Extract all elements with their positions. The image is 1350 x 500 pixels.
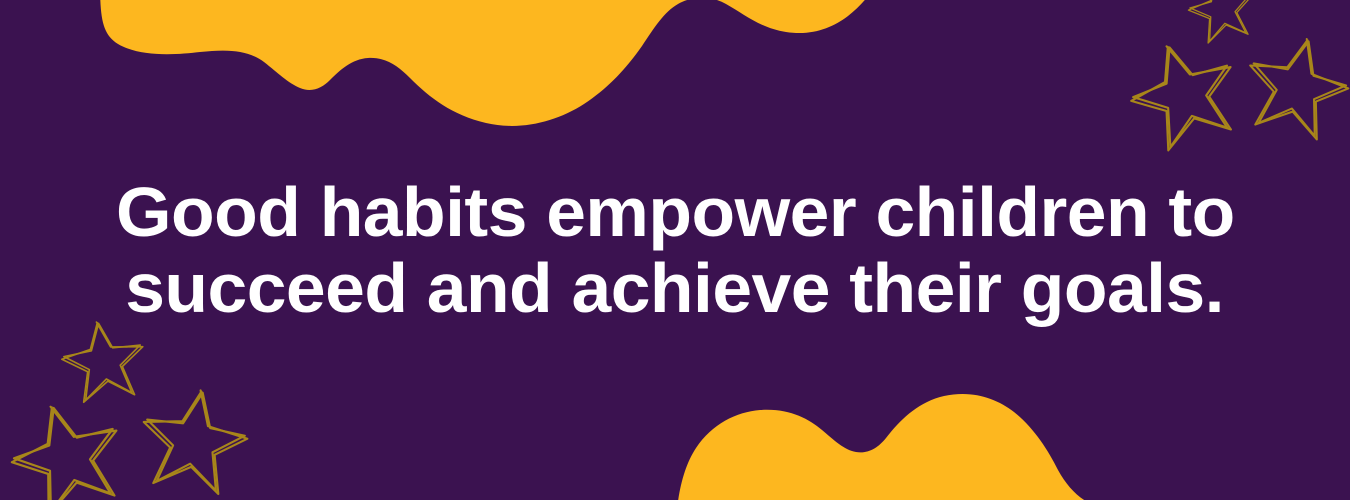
headline-line-2: succeed and achieve their goals.	[126, 250, 1225, 326]
headline-block: Good habits empower children to succeed …	[0, 0, 1350, 500]
quote-banner: Good habits empower children to succeed …	[0, 0, 1350, 500]
headline-line-1: Good habits empower children to	[116, 174, 1235, 250]
